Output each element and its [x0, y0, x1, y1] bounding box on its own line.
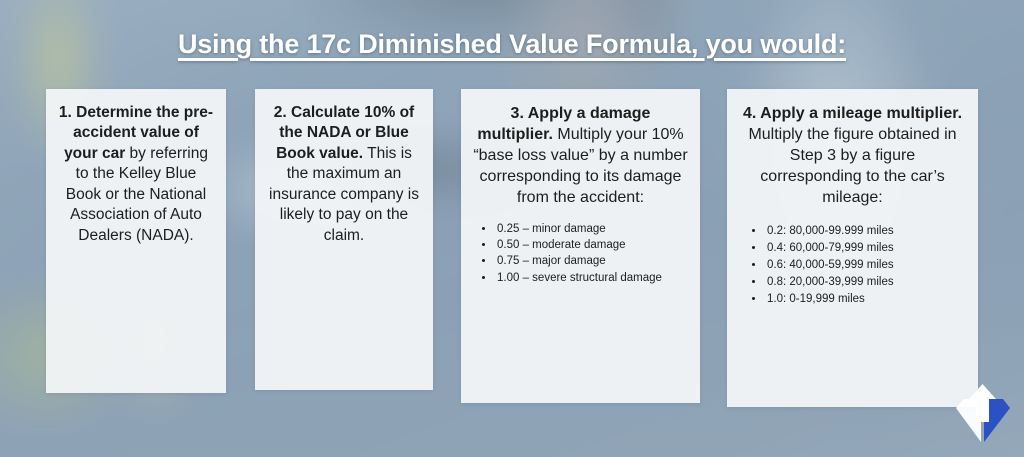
- list-item: 1.0: 0-19,999 miles: [765, 291, 966, 308]
- diamond-arrow-icon: [948, 382, 1018, 450]
- step-4-text: 4. Apply a mileage multiplier. Multiply …: [739, 103, 966, 209]
- step-1-text: 1. Determine the pre-accident value of y…: [58, 103, 214, 246]
- step-4-rest: Multiply the figure obtained in Step 3 b…: [748, 126, 956, 206]
- list-item: 0.2: 80,000-99.999 miles: [765, 223, 966, 240]
- list-item: 0.6: 40,000-59,999 miles: [765, 257, 966, 274]
- step-2-text: 2. Calculate 10% of the NADA or Blue Boo…: [267, 103, 421, 246]
- mileage-multiplier-list: 0.2: 80,000-99.999 miles0.4: 60,000-79,9…: [765, 223, 966, 308]
- infographic-stage: Using the 17c Diminished Value Formula, …: [0, 0, 1024, 457]
- step-3-text: 3. Apply a damage multiplier. Multiply y…: [473, 103, 688, 209]
- list-item: 0.4: 60,000-79,999 miles: [765, 240, 966, 257]
- step-card-2: 2. Calculate 10% of the NADA or Blue Boo…: [255, 89, 433, 390]
- list-item: 0.75 – major damage: [495, 253, 688, 269]
- list-item: 0.8: 20,000-39,999 miles: [765, 274, 966, 291]
- step-card-3: 3. Apply a damage multiplier. Multiply y…: [461, 89, 700, 403]
- page-title: Using the 17c Diminished Value Formula, …: [0, 29, 1024, 60]
- damage-multiplier-list: 0.25 – minor damage0.50 – moderate damag…: [495, 221, 688, 286]
- list-item: 0.50 – moderate damage: [495, 237, 688, 253]
- diamond-arrow-logo: [948, 382, 1018, 450]
- list-item: 1.00 – severe structural damage: [495, 270, 688, 286]
- step-4-bold-lead: 4. Apply a mileage multiplier.: [743, 105, 962, 122]
- step-card-1: 1. Determine the pre-accident value of y…: [46, 89, 226, 393]
- list-item: 0.25 – minor damage: [495, 221, 688, 237]
- step-card-4: 4. Apply a mileage multiplier. Multiply …: [727, 89, 978, 407]
